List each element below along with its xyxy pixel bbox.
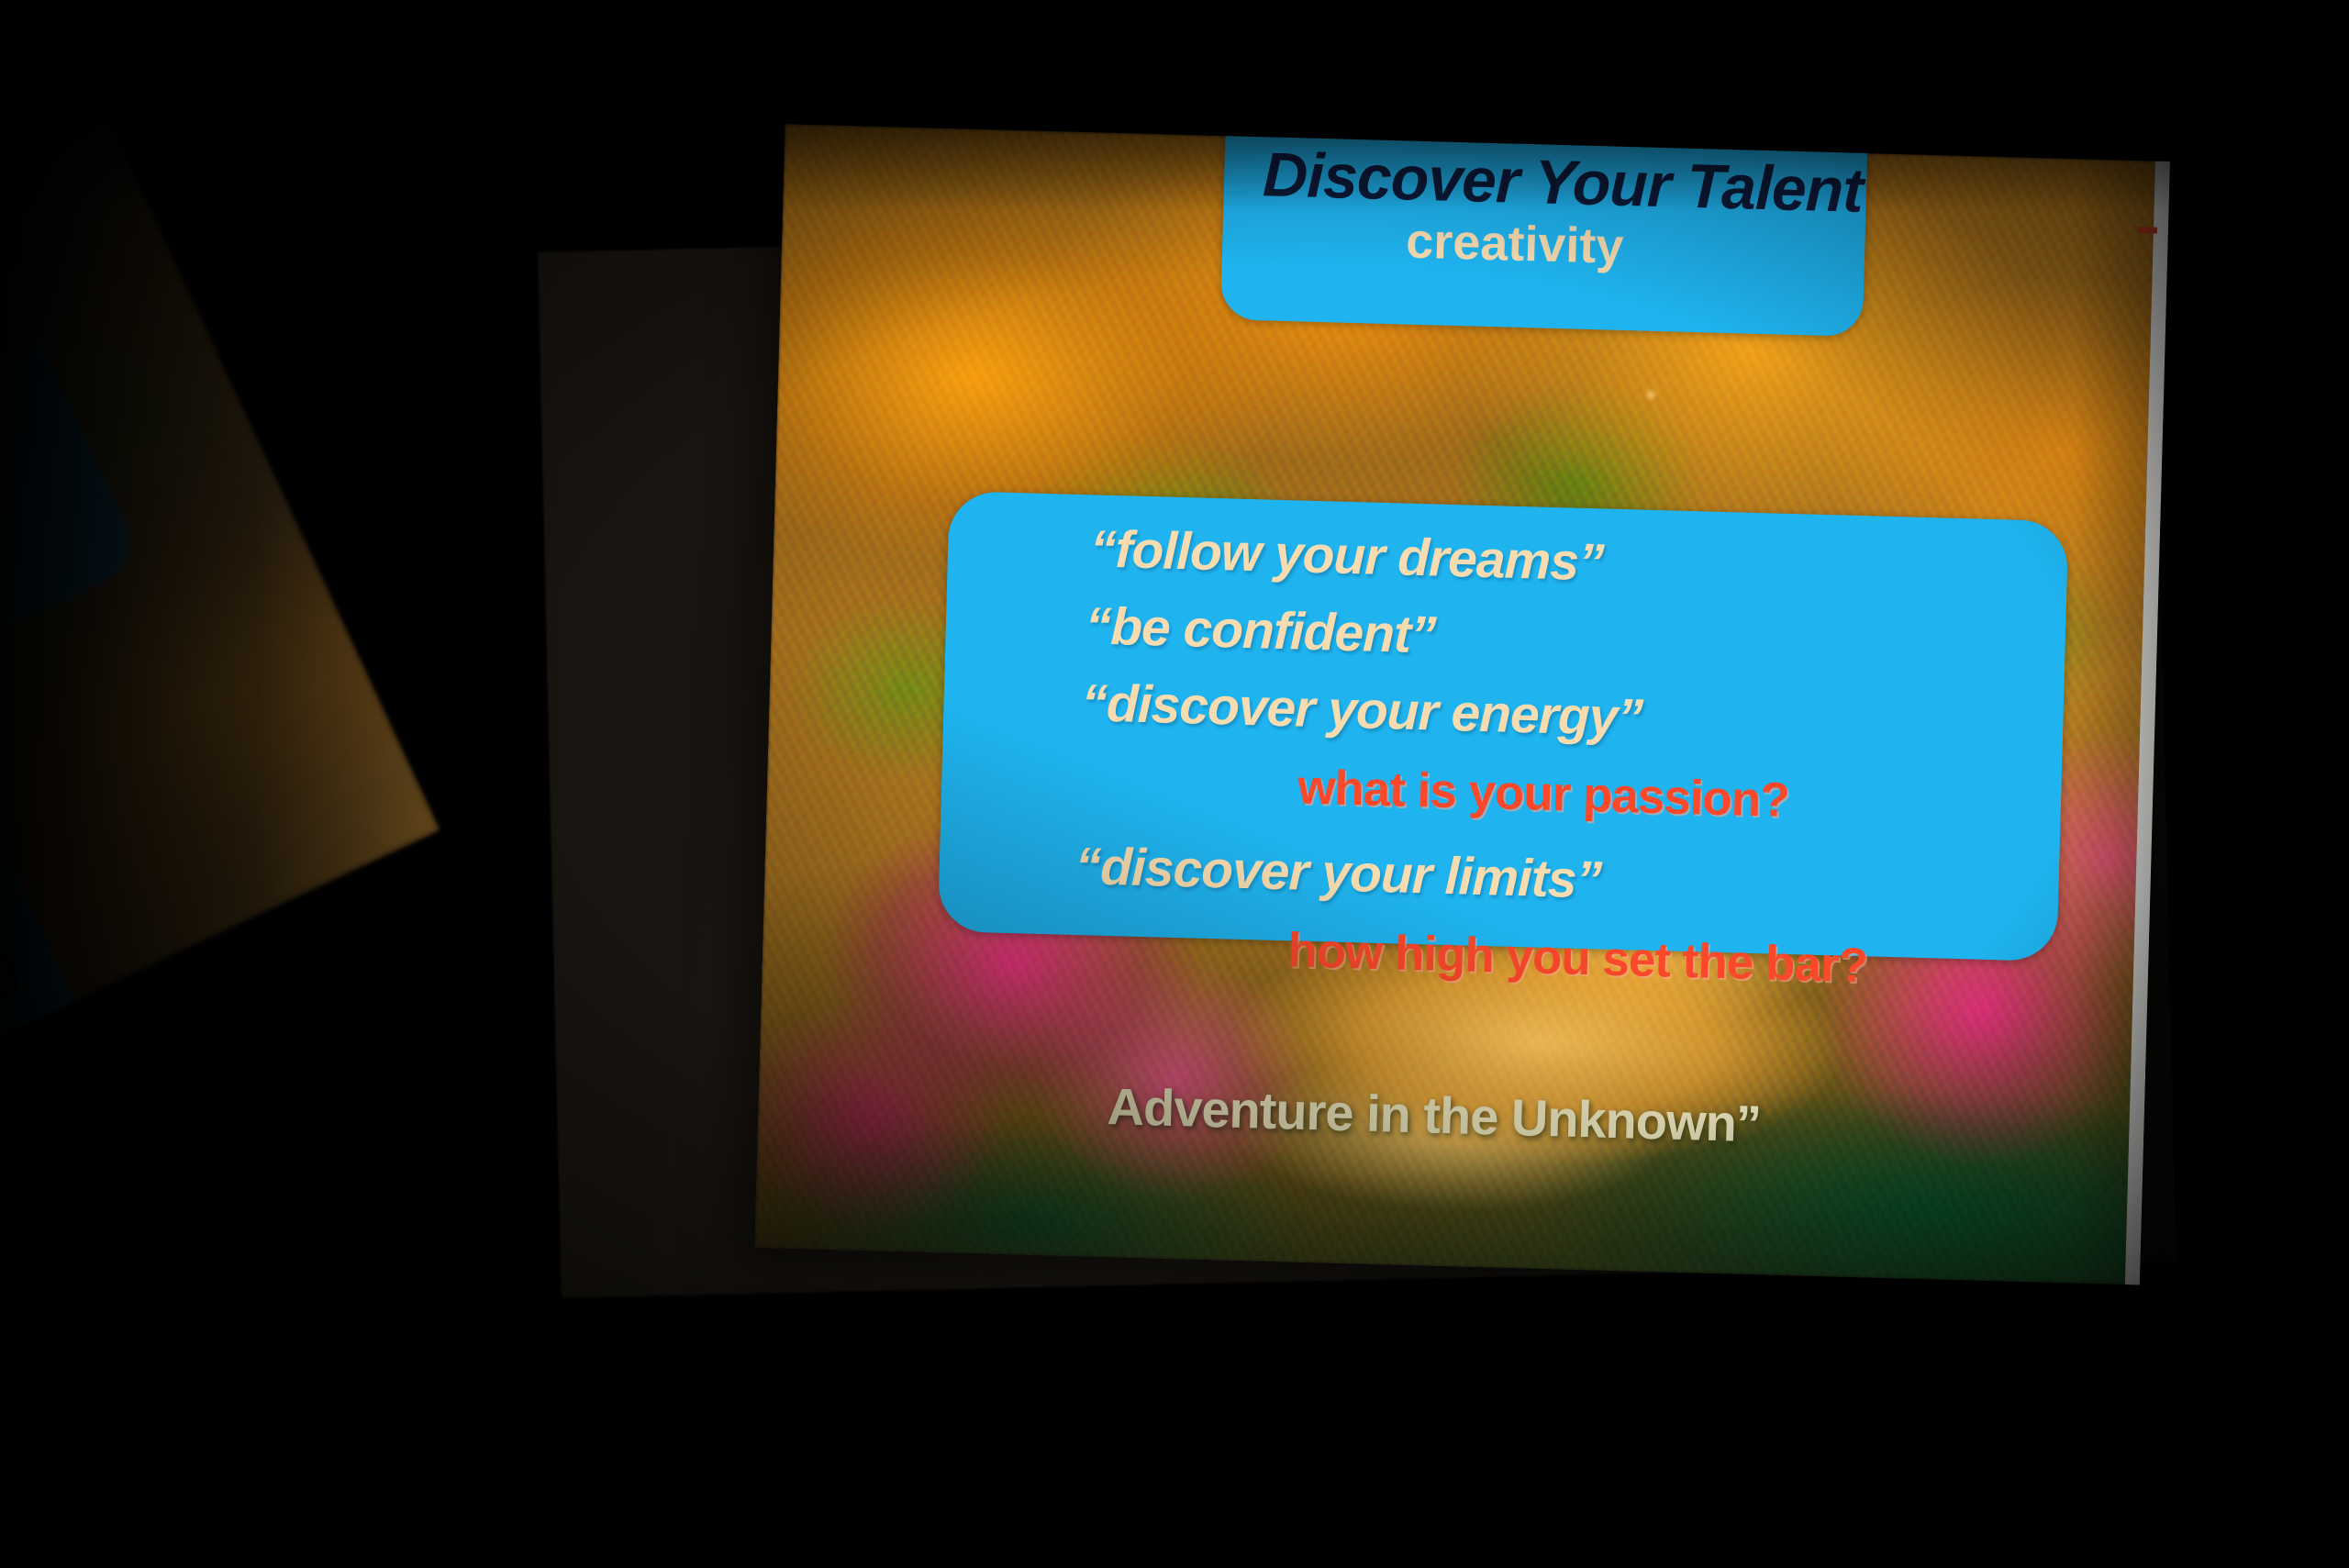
- reflection-slide: Discover Your Talent creativity “follow …: [0, 0, 440, 1365]
- reflection-garden-painting: [0, 0, 440, 1365]
- reflection-heading: Discover Your Talent: [0, 940, 34, 1240]
- projection-scene: Discover Your Talent creativity “follow …: [0, 0, 2349, 1568]
- reflection-wrapper: Discover Your Talent creativity “follow …: [0, 0, 2349, 1568]
